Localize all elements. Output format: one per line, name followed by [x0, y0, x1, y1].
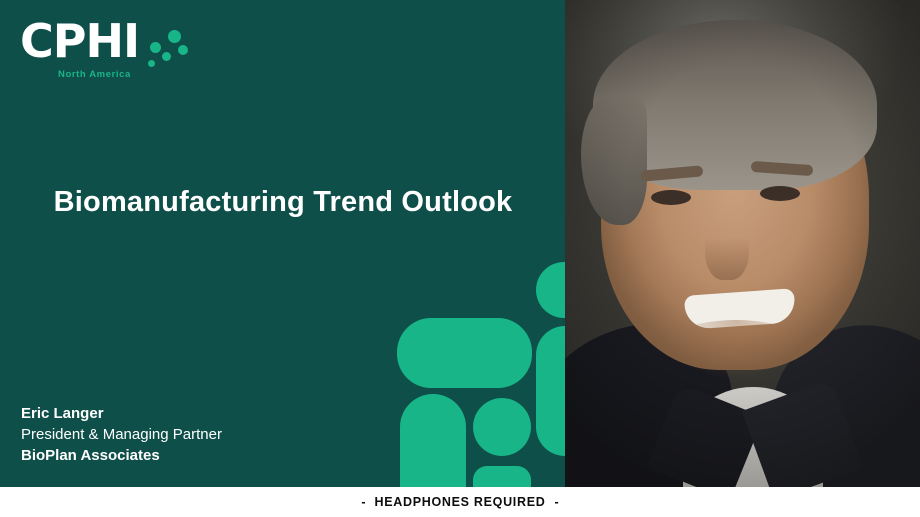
decorative-shape-circle	[473, 398, 531, 456]
decorative-shape-right-pill	[536, 326, 565, 456]
speaker-name: Eric Langer	[21, 403, 222, 424]
decorative-shape-bottom-tab	[473, 466, 531, 487]
cphi-logo: CPHI North America	[20, 18, 220, 90]
headphones-required-notice: HEADPHONES REQUIRED	[375, 495, 546, 509]
speaker-block: Eric Langer President & Managing Partner…	[21, 403, 222, 466]
footer-bar: - HEADPHONES REQUIRED -	[0, 487, 920, 517]
photo-vignette	[565, 0, 920, 487]
logo-dots-icon	[148, 30, 196, 72]
decorative-shape-rounded-square	[397, 318, 532, 388]
footer-dash-right: -	[545, 495, 567, 509]
speaker-photo	[565, 0, 920, 487]
presentation-slide: CPHI North America Biomanufacturing Tren…	[0, 0, 920, 517]
decorative-shape-tall-pill	[400, 394, 466, 487]
speaker-role: President & Managing Partner	[21, 424, 222, 445]
decorative-shape-small-pill	[536, 262, 565, 318]
slide-title: Biomanufacturing Trend Outlook	[40, 182, 526, 223]
footer-dash-left: -	[352, 495, 374, 509]
speaker-organization: BioPlan Associates	[21, 445, 222, 466]
slide-left-panel: CPHI North America Biomanufacturing Tren…	[0, 0, 565, 487]
